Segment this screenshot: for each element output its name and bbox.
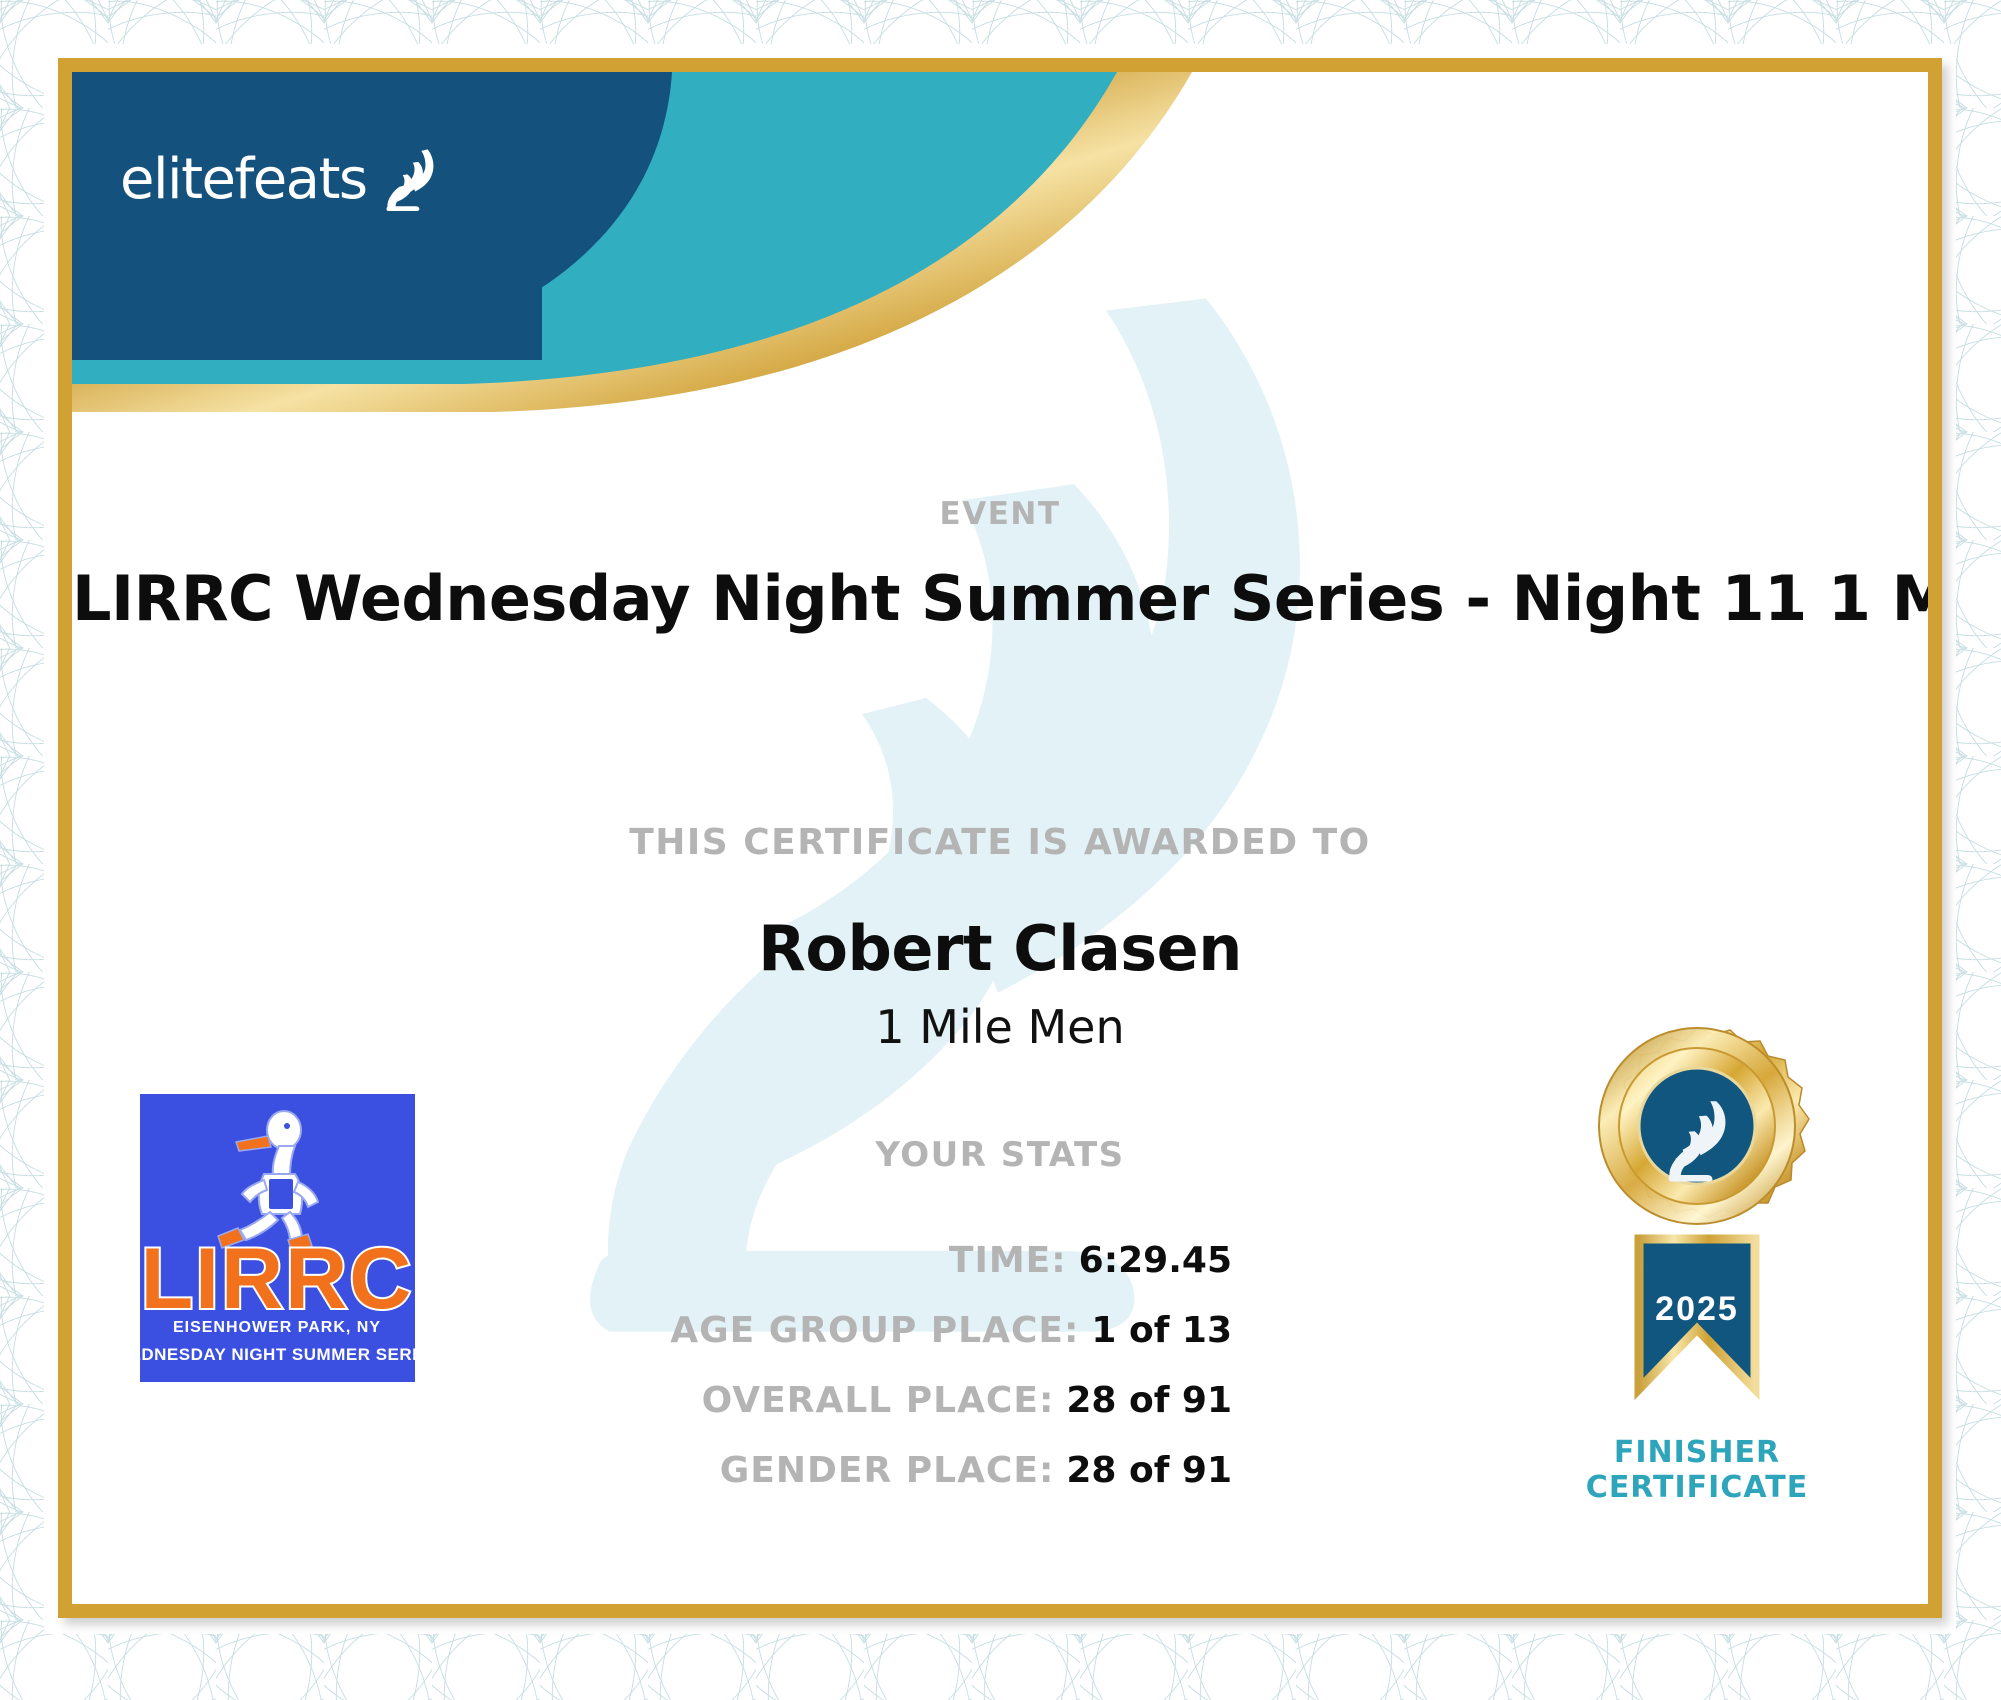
svg-text:LIRRC: LIRRC [141,1231,414,1327]
stat-key: GENDER PLACE: [720,1450,1055,1491]
gold-rosette-seal-icon: 2025 [1567,1024,1827,1444]
event-label: EVENT [72,496,1928,532]
lirrc-club-logo: LIRRC EISENHOWER PARK, NY WEDNESDAY NIGH… [140,1094,415,1382]
event-title: LIRRC Wednesday Night Summer Series - Ni… [72,562,1928,635]
stat-key: AGE GROUP PLACE: [670,1310,1079,1351]
lirrc-running-goose-icon: LIRRC EISENHOWER PARK, NY WEDNESDAY NIGH… [140,1094,415,1382]
certificate-content: EVENT LIRRC Wednesday Night Summer Serie… [72,72,1928,1604]
medal-caption-line2: CERTIFICATE [1537,1471,1857,1506]
medal-year-text: 2025 [1655,1290,1739,1328]
finisher-medal: 2025 [1537,1024,1857,1544]
stat-row-gender-place: GENDER PLACE: 28 of 91 [72,1450,1232,1496]
medal-caption-line1: FINISHER [1537,1436,1857,1471]
medal-caption: FINISHER CERTIFICATE [1537,1436,1857,1505]
stat-value: 28 of 91 [1066,1450,1232,1491]
stat-value: 1 of 13 [1091,1310,1232,1351]
stat-value: 28 of 91 [1066,1380,1232,1421]
stat-value: 6:29.45 [1079,1240,1232,1281]
certificate-frame: elitefeats EVENT [58,58,1942,1618]
svg-text:EISENHOWER PARK, NY: EISENHOWER PARK, NY [173,1319,381,1336]
svg-text:WEDNESDAY NIGHT SUMMER SERIES: WEDNESDAY NIGHT SUMMER SERIES [140,1345,415,1364]
stat-row-overall-place: OVERALL PLACE: 28 of 91 [72,1380,1232,1426]
recipient-name: Robert Clasen [72,912,1928,985]
awarded-to-label: THIS CERTIFICATE IS AWARDED TO [72,822,1928,863]
certificate-page: elitefeats EVENT [0,0,2001,1700]
stat-key: TIME: [949,1240,1067,1281]
stat-key: OVERALL PLACE: [702,1380,1055,1421]
